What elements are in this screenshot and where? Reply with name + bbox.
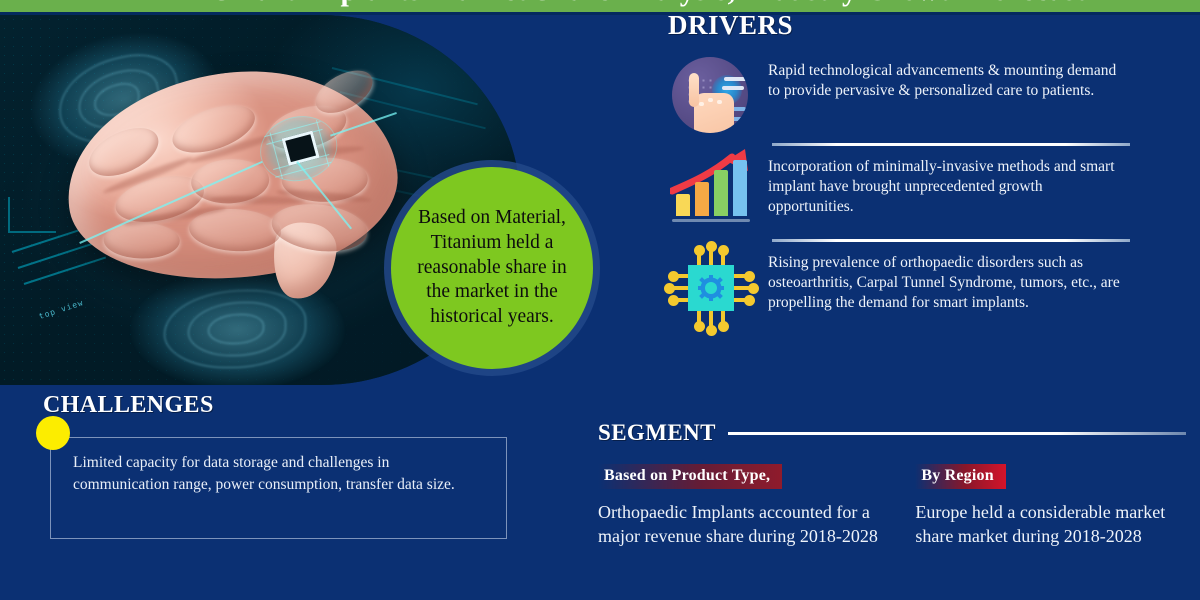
segment-column-product-type: Based on Product Type, Orthopaedic Impla…: [598, 464, 885, 549]
hud-box-left: [8, 197, 56, 233]
implant-chip-square: [282, 131, 320, 166]
material-callout-text: Based on Material, Titanium held a reaso…: [406, 206, 578, 331]
segment-badge-region: By Region: [915, 464, 1005, 489]
segment-columns: Based on Product Type, Orthopaedic Impla…: [598, 464, 1198, 549]
hand-tap-icon: [666, 51, 754, 139]
segment-badge-product-type: Based on Product Type,: [598, 464, 782, 489]
segment-section: SEGMENT Based on Product Type, Orthopaed…: [598, 420, 1198, 549]
segment-title: SEGMENT: [598, 420, 716, 446]
segment-column-region: By Region Europe held a considerable mar…: [915, 464, 1198, 549]
driver-text-2: Incorporation of minimally-invasive meth…: [768, 147, 1120, 217]
challenges-bullet-dot-icon: [36, 416, 70, 450]
clipped-headline: Smart Implants Market Share Analysis, In…: [200, 0, 1100, 8]
material-callout-circle: Based on Material, Titanium held a reaso…: [391, 167, 593, 369]
challenges-box: Limited capacity for data storage and ch…: [50, 437, 507, 539]
challenges-section: CHALLENGES Limited capacity for data sto…: [40, 392, 520, 539]
driver-text-1: Rapid technological advancements & mount…: [768, 51, 1120, 101]
brain-model: [55, 54, 411, 323]
growth-bar-chart-icon: [666, 147, 754, 235]
gear-icon: [698, 275, 724, 301]
segment-header-row: SEGMENT: [598, 420, 1198, 446]
drivers-title: DRIVERS: [668, 10, 1180, 41]
driver-item-3: Rising prevalence of orthopaedic disorde…: [660, 243, 1180, 339]
infographic-canvas: Smart Implants Market Share Analysis, In…: [0, 0, 1200, 600]
segment-body-product-type: Orthopaedic Implants accounted for a maj…: [598, 501, 885, 549]
driver-item-2: Incorporation of minimally-invasive meth…: [660, 147, 1180, 243]
challenges-text: Limited capacity for data storage and ch…: [73, 452, 473, 496]
segment-rule: [728, 432, 1186, 435]
drivers-section: DRIVERS Rapid: [660, 10, 1180, 339]
microchip-icon: [666, 243, 754, 331]
segment-body-region: Europe held a considerable market share …: [915, 501, 1198, 549]
driver-item-1: Rapid technological advancements & mount…: [660, 51, 1180, 147]
driver-separator-1: [772, 143, 1130, 146]
challenges-title: CHALLENGES: [43, 392, 520, 419]
driver-text-3: Rising prevalence of orthopaedic disorde…: [768, 243, 1120, 313]
driver-separator-2: [772, 239, 1130, 242]
